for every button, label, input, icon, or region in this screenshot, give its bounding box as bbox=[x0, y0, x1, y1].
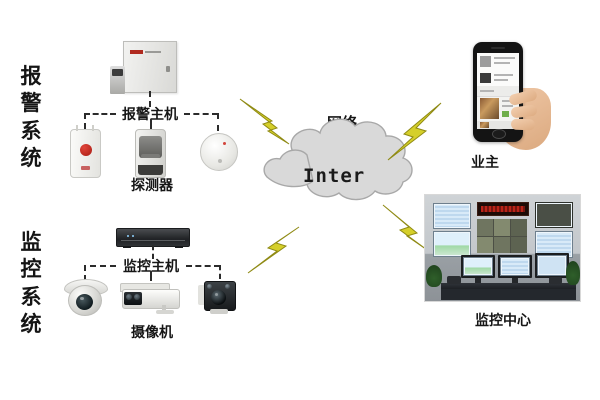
owner-smartphone-photo bbox=[455, 40, 555, 148]
connector-bus-surv-right bbox=[186, 265, 220, 267]
monitoring-center-label: 监控中心 bbox=[461, 310, 545, 330]
surv-label-char-2: 控 bbox=[14, 255, 48, 282]
connector-drop-pir bbox=[150, 119, 152, 129]
alarm-label-char-1: 报 bbox=[14, 62, 48, 89]
surv-label-char-1: 监 bbox=[14, 228, 48, 255]
connector-drop-remote bbox=[84, 113, 86, 129]
network-label: 网络 bbox=[318, 112, 366, 133]
connector-drop-boxcam bbox=[219, 265, 221, 279]
lightning-surveillance-to-cloud bbox=[248, 227, 299, 273]
diagram-canvas: 报 警 系 统 监 控 系 统 报警主机 bbox=[0, 0, 600, 400]
surv-label-char-3: 系 bbox=[14, 283, 48, 310]
emergency-remote-device bbox=[70, 129, 101, 178]
alarm-label-char-2: 警 bbox=[14, 89, 48, 116]
monitoring-center-photo bbox=[424, 194, 581, 302]
alarm-label-char-4: 统 bbox=[14, 144, 48, 171]
internet-cloud-text: Inter bbox=[303, 165, 365, 187]
owner-label: 业主 bbox=[462, 152, 508, 172]
surv-label-char-4: 统 bbox=[14, 310, 48, 337]
smoke-detector-device bbox=[200, 133, 238, 171]
pir-motion-detector-device bbox=[135, 129, 166, 178]
connector-bus-alarm-left bbox=[84, 113, 116, 115]
lightning-cloud-to-owner bbox=[388, 103, 441, 160]
box-camera-device bbox=[198, 279, 240, 316]
surveillance-camera-label: 摄像机 bbox=[117, 322, 187, 342]
alarm-host-side-module bbox=[110, 66, 125, 94]
bullet-camera-device bbox=[118, 281, 184, 315]
section-label-surveillance-system: 监 控 系 统 bbox=[14, 228, 48, 337]
lightning-cloud-to-center bbox=[383, 205, 430, 252]
alarm-label-char-3: 系 bbox=[14, 117, 48, 144]
connector-bus-surv-left bbox=[90, 265, 116, 267]
lightning-alarm-to-cloud bbox=[240, 99, 289, 144]
connector-bus-alarm-right bbox=[184, 113, 218, 115]
led-banner bbox=[477, 202, 529, 216]
dome-camera-device bbox=[64, 279, 106, 315]
connector-drop-smoke bbox=[217, 113, 219, 131]
alarm-detector-label: 探测器 bbox=[119, 175, 185, 195]
alarm-host-device bbox=[123, 41, 177, 93]
section-label-alarm-system: 报 警 系 统 bbox=[14, 62, 48, 171]
connector-drop-bullet bbox=[150, 271, 152, 281]
